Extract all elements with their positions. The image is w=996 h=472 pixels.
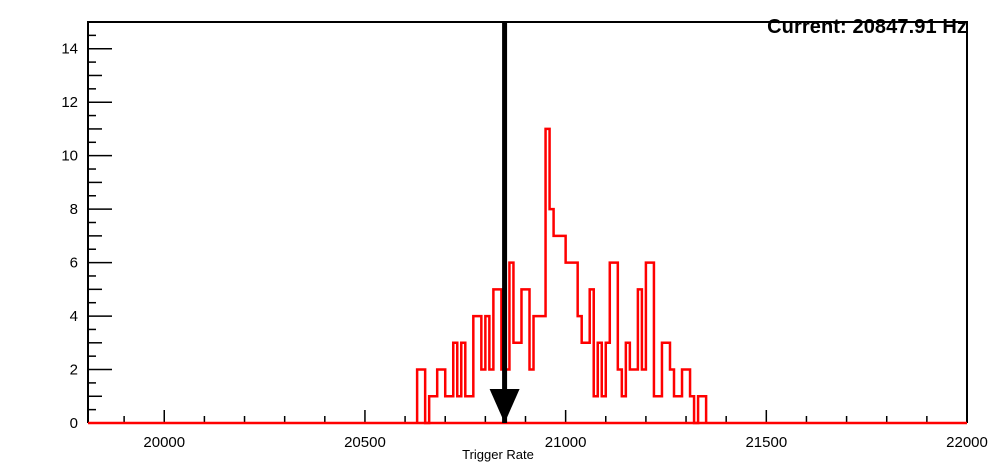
current-rate-label: Current: 20847.91 Hz	[767, 16, 967, 39]
y-tick-label: 14	[61, 41, 78, 58]
y-tick-label: 2	[70, 362, 78, 379]
y-tick-label: 0	[70, 415, 78, 432]
x-axis-title: Trigger Rate	[0, 447, 996, 462]
marker-arrowhead	[490, 389, 520, 423]
chart-canvas: 2000020500210002150022000 02468101214 Cu…	[0, 0, 996, 472]
histogram-plot: 2000020500210002150022000 02468101214	[0, 0, 996, 472]
y-tick-label: 10	[61, 148, 78, 165]
y-axis-ticks	[88, 22, 112, 423]
y-tick-label: 12	[61, 94, 78, 111]
histogram-outline	[417, 129, 706, 423]
plot-frame	[88, 22, 967, 423]
histogram-series	[88, 129, 967, 423]
y-tick-label: 6	[70, 255, 78, 272]
x-axis-ticks	[124, 410, 967, 423]
y-axis-tick-labels: 02468101214	[61, 41, 78, 432]
y-tick-label: 4	[70, 308, 78, 325]
y-tick-label: 8	[70, 201, 78, 218]
